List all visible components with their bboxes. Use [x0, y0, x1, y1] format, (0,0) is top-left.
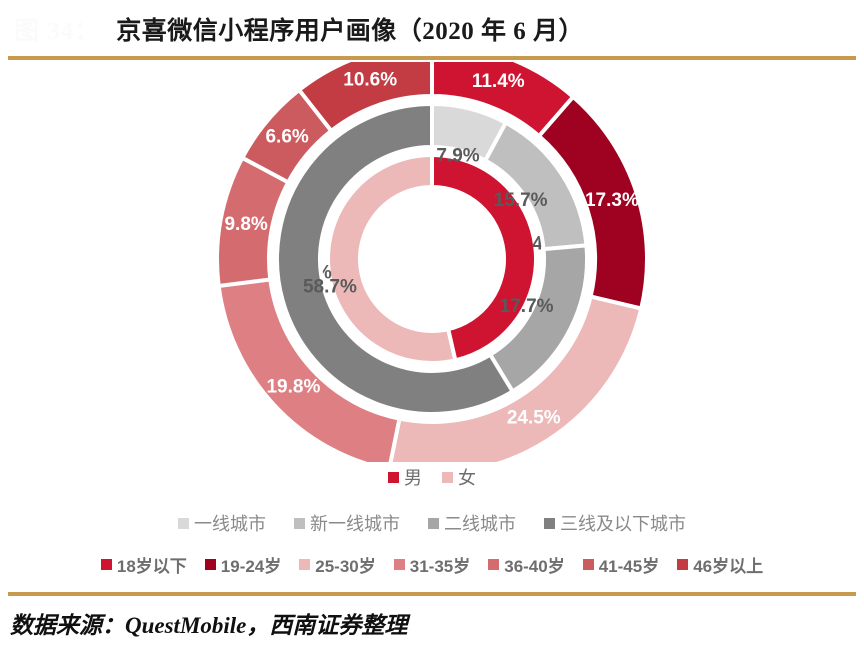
legend-swatch-icon — [294, 518, 305, 529]
slice-value-label: 17.3% — [585, 190, 639, 211]
legend-swatch-icon — [442, 472, 453, 483]
legend-item-label: 19-24岁 — [221, 552, 281, 577]
donut-ring-middle: 7.9%15.7%17.7%58.7% — [277, 104, 587, 414]
legend-swatch-icon — [101, 559, 112, 570]
legend-item[interactable]: 18岁以下 — [101, 552, 187, 577]
legend-item-label: 三线及以下城市 — [560, 510, 686, 536]
legend-item[interactable]: 二线城市 — [428, 510, 516, 536]
legend-city: 一线城市新一线城市二线城市三线及以下城市 — [0, 510, 864, 536]
legend-item-label: 41-45岁 — [599, 552, 659, 577]
legend-swatch-icon — [677, 559, 688, 570]
legend-item-label: 男 — [404, 464, 422, 490]
legend-item[interactable]: 新一线城市 — [294, 510, 400, 536]
slice-value-label: 19.8% — [266, 377, 320, 398]
legend-item-label: 18岁以下 — [117, 552, 187, 577]
legend-gender: 男女 — [0, 464, 864, 490]
legend-item[interactable]: 41-45岁 — [583, 552, 659, 577]
legend-item[interactable]: 19-24岁 — [205, 552, 281, 577]
legend-item[interactable]: 36-40岁 — [488, 552, 564, 577]
legend-item-label: 31-35岁 — [410, 552, 470, 577]
page-title: 京喜微信小程序用户画像（2020 年 6 月） — [116, 11, 584, 47]
legend-item[interactable]: 三线及以下城市 — [544, 510, 686, 536]
legend-item-label: 46岁以上 — [693, 552, 763, 577]
legend-age: 18岁以下19-24岁25-30岁31-35岁36-40岁41-45岁46岁以上 — [0, 552, 864, 577]
figure-header: 图 34： 京喜微信小程序用户画像（2020 年 6 月） — [0, 6, 864, 52]
slice-value-label: 58.7% — [303, 277, 357, 298]
legend-item-label: 新一线城市 — [310, 510, 400, 536]
legend-item-label: 25-30岁 — [315, 552, 375, 577]
legend-swatch-icon — [488, 559, 499, 570]
slice-value-label: 6.6% — [265, 127, 308, 148]
legend-item[interactable]: 46岁以上 — [677, 552, 763, 577]
legend-swatch-icon — [299, 559, 310, 570]
legend-swatch-icon — [428, 518, 439, 529]
slice-value-label: 15.7% — [494, 190, 548, 211]
legend-item-label: 36-40岁 — [504, 552, 564, 577]
slice-value-label: 9.8% — [224, 214, 267, 235]
legend-item[interactable]: 31-35岁 — [394, 552, 470, 577]
divider-top — [8, 56, 856, 60]
donut-chart: 46.4%53.6%7.9%15.7%17.7%58.7%11.4%17.3%2… — [0, 62, 864, 462]
slice-value-label: 24.5% — [507, 407, 561, 428]
legend-swatch-icon — [544, 518, 555, 529]
slice-value-label: 7.9% — [436, 145, 479, 166]
slice-value-label: 10.6% — [343, 69, 397, 90]
legend-item[interactable]: 女 — [442, 464, 476, 490]
slice-value-label: 11.4% — [472, 71, 525, 92]
legend-item[interactable]: 25-30岁 — [299, 552, 375, 577]
legend-swatch-icon — [583, 559, 594, 570]
legend-swatch-icon — [205, 559, 216, 570]
legend-swatch-icon — [394, 559, 405, 570]
figure-number: 图 34： — [14, 11, 100, 47]
donut-chart-svg: 46.4%53.6%7.9%15.7%17.7%58.7%11.4%17.3%2… — [0, 62, 864, 462]
legend-item-label: 女 — [458, 464, 476, 490]
legend-swatch-icon — [388, 472, 399, 483]
figure-container: 图 34： 京喜微信小程序用户画像（2020 年 6 月） 46.4%53.6%… — [0, 0, 864, 652]
source-note: 数据来源：QuestMobile，西南证券整理 — [10, 606, 407, 640]
legend-swatch-icon — [178, 518, 189, 529]
divider-bottom — [8, 592, 856, 596]
legend-item-label: 二线城市 — [444, 510, 516, 536]
slice-value-label: 17.7% — [500, 296, 554, 317]
legend-item-label: 一线城市 — [194, 510, 266, 536]
legend-item[interactable]: 一线城市 — [178, 510, 266, 536]
legend-item[interactable]: 男 — [388, 464, 422, 490]
